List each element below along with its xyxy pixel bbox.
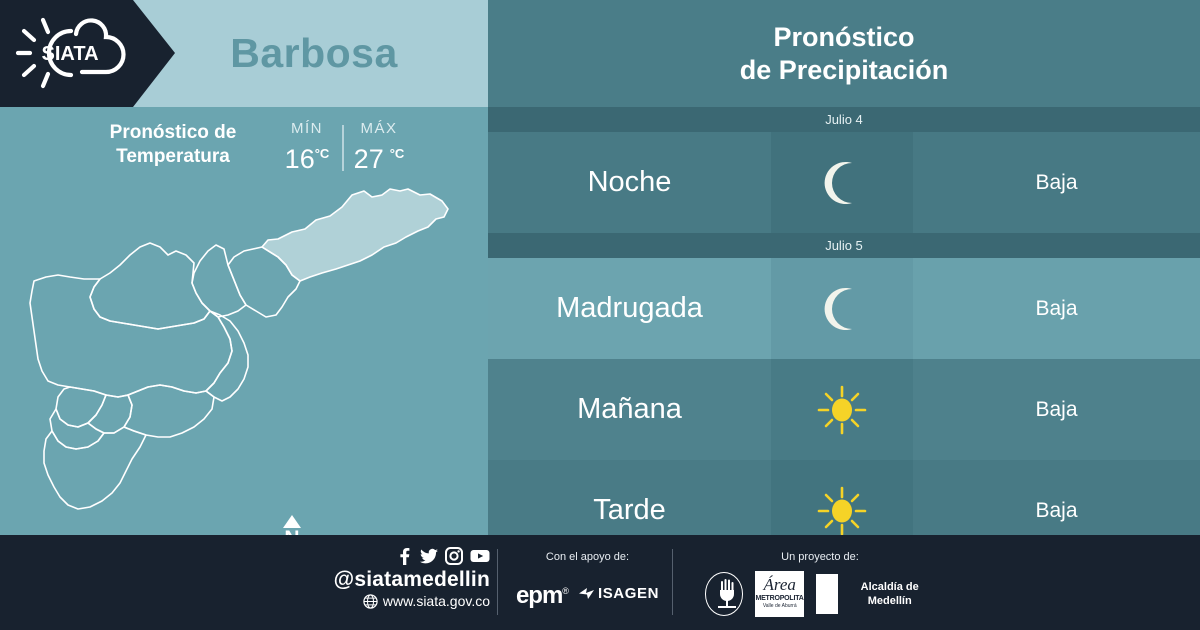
max-label: MÁX — [348, 119, 410, 139]
project-caption: Un proyecto de: — [705, 549, 935, 565]
moon-icon — [816, 283, 868, 335]
forecast-level-label: Baja — [1035, 398, 1077, 422]
sun-icon — [815, 484, 869, 538]
area-logo-line2: Valle de Aburrá — [755, 603, 804, 609]
forecast-period-label: Madrugada — [556, 292, 703, 325]
min-value-group: 16°C — [276, 139, 338, 174]
epm-logo-text: epm — [516, 582, 562, 609]
isagen-logo: ISAGEN — [578, 585, 659, 603]
forecast-level-cell: Baja — [913, 258, 1200, 359]
date-band: Julio 5 — [488, 233, 1200, 258]
footer: @siatamedellin www.siata.gov.co Con el a… — [0, 535, 1200, 630]
map-region-east-strip — [206, 311, 248, 401]
website-row[interactable]: www.siata.gov.co — [330, 592, 490, 611]
epm-logo: epm® — [516, 579, 568, 608]
alcaldia-label: Alcaldía de Medellín — [844, 580, 935, 608]
moon-icon — [816, 157, 868, 209]
footer-divider — [672, 549, 673, 615]
page-title: Barbosa — [140, 0, 488, 107]
area-logo-line1: METROPOLITANA — [755, 595, 804, 603]
map-region-caldas — [44, 427, 146, 509]
date-band: Julio 4 — [488, 107, 1200, 132]
temperature-title-line2: Temperatura — [78, 145, 268, 169]
siata-logo-text: SIATA — [41, 43, 98, 65]
precipitation-title-line1: Pronóstico — [773, 21, 914, 54]
globe-icon — [363, 594, 378, 609]
precipitation-header: Pronóstico de Precipitación — [488, 0, 1200, 107]
precipitation-panel: Pronóstico de Precipitación Julio 4 Noch… — [488, 0, 1200, 535]
forecast-period-label: Noche — [588, 166, 672, 199]
forecast-row[interactable]: Mañana — [488, 359, 1200, 460]
max-temperature: MÁX 27°C — [348, 119, 410, 174]
social-handle[interactable]: @siatamedellin — [330, 567, 490, 592]
facebook-icon[interactable] — [395, 547, 413, 565]
social-block: @siatamedellin www.siata.gov.co — [330, 547, 490, 611]
map-region-envigado — [124, 385, 214, 437]
area-logo-script: Área — [755, 575, 804, 594]
forecast-level-cell: Baja — [913, 132, 1200, 233]
support-logos: epm® ISAGEN — [505, 579, 670, 608]
temperature-panel: Barbosa SIATA Pronóstico de Temperatura — [0, 0, 488, 535]
instagram-icon[interactable] — [445, 547, 463, 565]
min-temperature: MÍN 16°C — [276, 119, 338, 174]
support-block: Con el apoyo de: epm® ISAGEN — [505, 549, 670, 608]
support-caption: Con el apoyo de: — [505, 549, 670, 565]
isagen-logo-text: ISAGEN — [598, 585, 659, 603]
isagen-leaf-icon — [578, 586, 595, 601]
project-logos: Área METROPOLITANA Valle de Aburrá Alcal… — [705, 571, 935, 617]
forecast-icon-cell — [771, 258, 913, 359]
sun-icon — [815, 383, 869, 437]
forecast-period-label: Tarde — [593, 494, 666, 527]
forecast-period-cell: Madrugada — [488, 258, 771, 359]
min-value: 16 — [285, 144, 315, 174]
weather-forecast-card: Barbosa SIATA Pronóstico de Temperatura — [0, 0, 1200, 630]
forecast-level-label: Baja — [1035, 499, 1077, 523]
footer-divider — [497, 549, 498, 615]
map-region-copacabana — [192, 245, 246, 317]
temperature-title-line1: Pronóstico de — [78, 121, 268, 145]
area-metropolitana-logo: Área METROPOLITANA Valle de Aburrá — [755, 571, 804, 617]
forecast-row[interactable]: Noche Baja — [488, 132, 1200, 233]
youtube-icon[interactable] — [470, 547, 490, 565]
map-region-medellin — [30, 275, 232, 397]
forecast-icon-cell — [771, 359, 913, 460]
temperature-divider — [342, 125, 344, 171]
forecast-level-label: Baja — [1035, 171, 1077, 195]
social-icons — [330, 547, 490, 565]
forecast-row[interactable]: Madrugada Baja — [488, 258, 1200, 359]
forecast-period-cell: Mañana — [488, 359, 771, 460]
min-label: MÍN — [276, 119, 338, 139]
forecast-period-label: Mañana — [577, 393, 682, 426]
max-value: 27 — [354, 144, 384, 174]
aburra-valley-map: N — [0, 185, 488, 535]
sun-cloud-icon: SIATA — [14, 14, 126, 92]
forecast-period-cell: Noche — [488, 132, 771, 233]
twitter-icon[interactable] — [420, 547, 438, 565]
forecast-icon-cell — [771, 132, 913, 233]
temperature-values: MÍN 16°C MÁX 27°C — [276, 119, 410, 174]
map-region-bello — [90, 243, 210, 329]
forecast-level-label: Baja — [1035, 297, 1077, 321]
max-unit: °C — [390, 146, 405, 161]
website-label: www.siata.gov.co — [383, 592, 490, 611]
udea-seal-icon — [705, 572, 743, 616]
min-unit: °C — [315, 146, 330, 161]
forecast-level-cell: Baja — [913, 359, 1200, 460]
alcaldia-logo: Alcaldía de Medellín — [816, 574, 935, 614]
project-block: Un proyecto de: — [705, 549, 935, 617]
map-region-barbosa — [262, 189, 448, 281]
alcaldia-emblem-icon — [816, 574, 838, 614]
max-value-group: 27°C — [348, 139, 410, 174]
precipitation-title-line2: de Precipitación — [740, 54, 949, 87]
map-svg — [0, 185, 488, 535]
forecast-list: Julio 4 Noche Baja Julio 5 Madrugada — [488, 107, 1200, 561]
temperature-summary: Pronóstico de Temperatura MÍN 16°C MÁX 2… — [0, 107, 488, 189]
temperature-title: Pronóstico de Temperatura — [78, 121, 268, 169]
